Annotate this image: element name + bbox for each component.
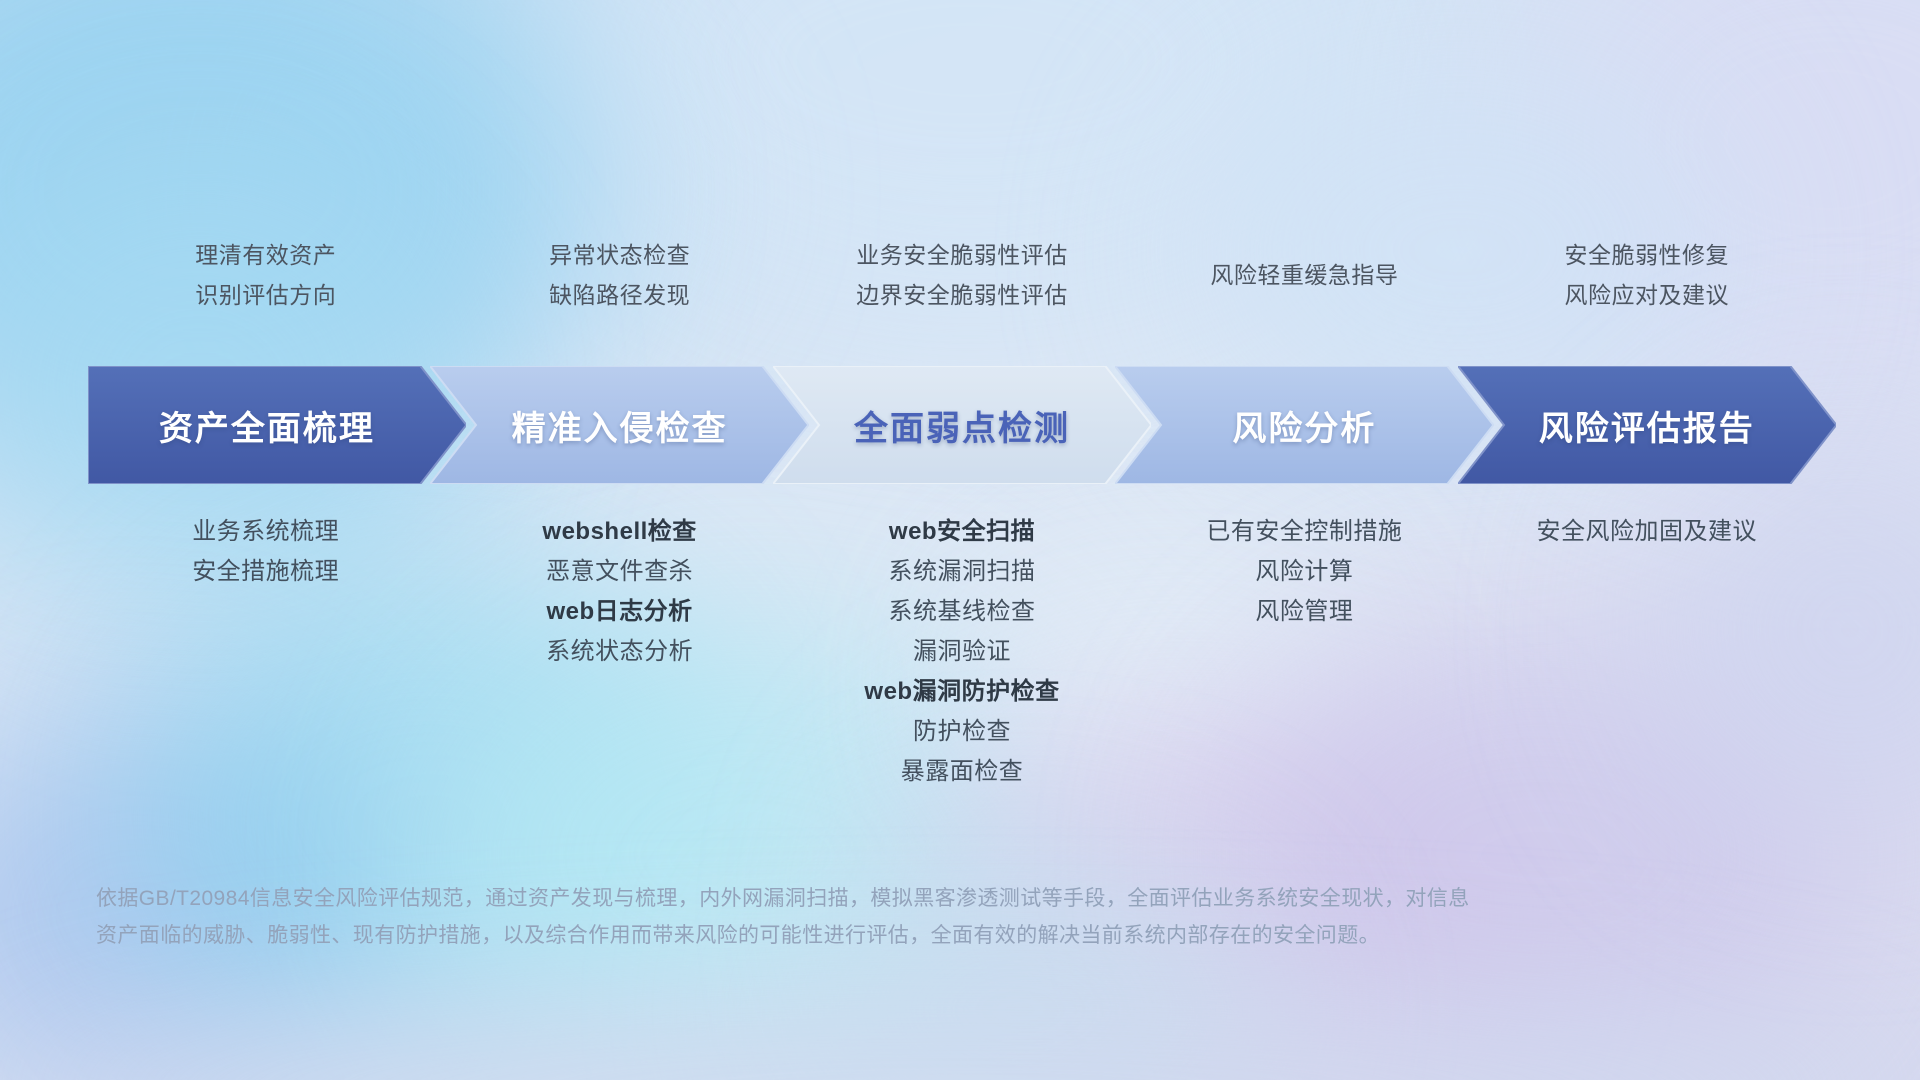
process-stage-1[interactable]: 资产全面梳理 <box>88 366 466 484</box>
stage-title: 资产全面梳理 <box>159 401 375 450</box>
process-chevron-band: 资产全面梳理精准入侵检查全面弱点检测风险分析风险评估报告 <box>88 366 1836 484</box>
top-note: 安全脆弱性修复 <box>1417 235 1877 275</box>
list-item: 暴露面检查 <box>732 752 1192 792</box>
list-item: 风险管理 <box>1074 592 1534 632</box>
process-stage-4[interactable]: 风险分析 <box>1115 366 1493 484</box>
stage-5-top-notes: 安全脆弱性修复风险应对及建议 <box>1417 235 1877 315</box>
list-item: 安全风险加固及建议 <box>1417 512 1877 552</box>
footer-description: 依据GB/T20984信息安全风险评估规范，通过资产发现与梳理，内外网漏洞扫描，… <box>96 880 1836 954</box>
stage-title: 精准入侵检查 <box>512 401 728 450</box>
footer-line-2: 资产面临的威胁、脆弱性、现有防护措施，以及综合作用而带来风险的可能性进行评估，全… <box>96 917 1836 954</box>
stage-title: 风险分析 <box>1232 401 1376 450</box>
process-stage-2[interactable]: 精准入侵检查 <box>430 366 808 484</box>
top-note: 风险应对及建议 <box>1417 275 1877 315</box>
list-item: 防护检查 <box>732 712 1192 752</box>
process-stage-5[interactable]: 风险评估报告 <box>1458 366 1836 484</box>
stage-title: 风险评估报告 <box>1539 401 1755 450</box>
list-item: 风险计算 <box>1074 552 1534 592</box>
stage-title: 全面弱点检测 <box>854 401 1070 450</box>
stage-5-items: 安全风险加固及建议 <box>1417 512 1877 552</box>
list-item: 漏洞验证 <box>732 632 1192 672</box>
footer-line-1: 依据GB/T20984信息安全风险评估规范，通过资产发现与梳理，内外网漏洞扫描，… <box>96 880 1836 917</box>
list-item: web漏洞防护检查 <box>732 672 1192 712</box>
process-stage-3[interactable]: 全面弱点检测 <box>773 366 1151 484</box>
infographic-canvas: 理清有效资产识别评估方向异常状态检查缺陷路径发现业务安全脆弱性评估边界安全脆弱性… <box>0 0 1920 1080</box>
